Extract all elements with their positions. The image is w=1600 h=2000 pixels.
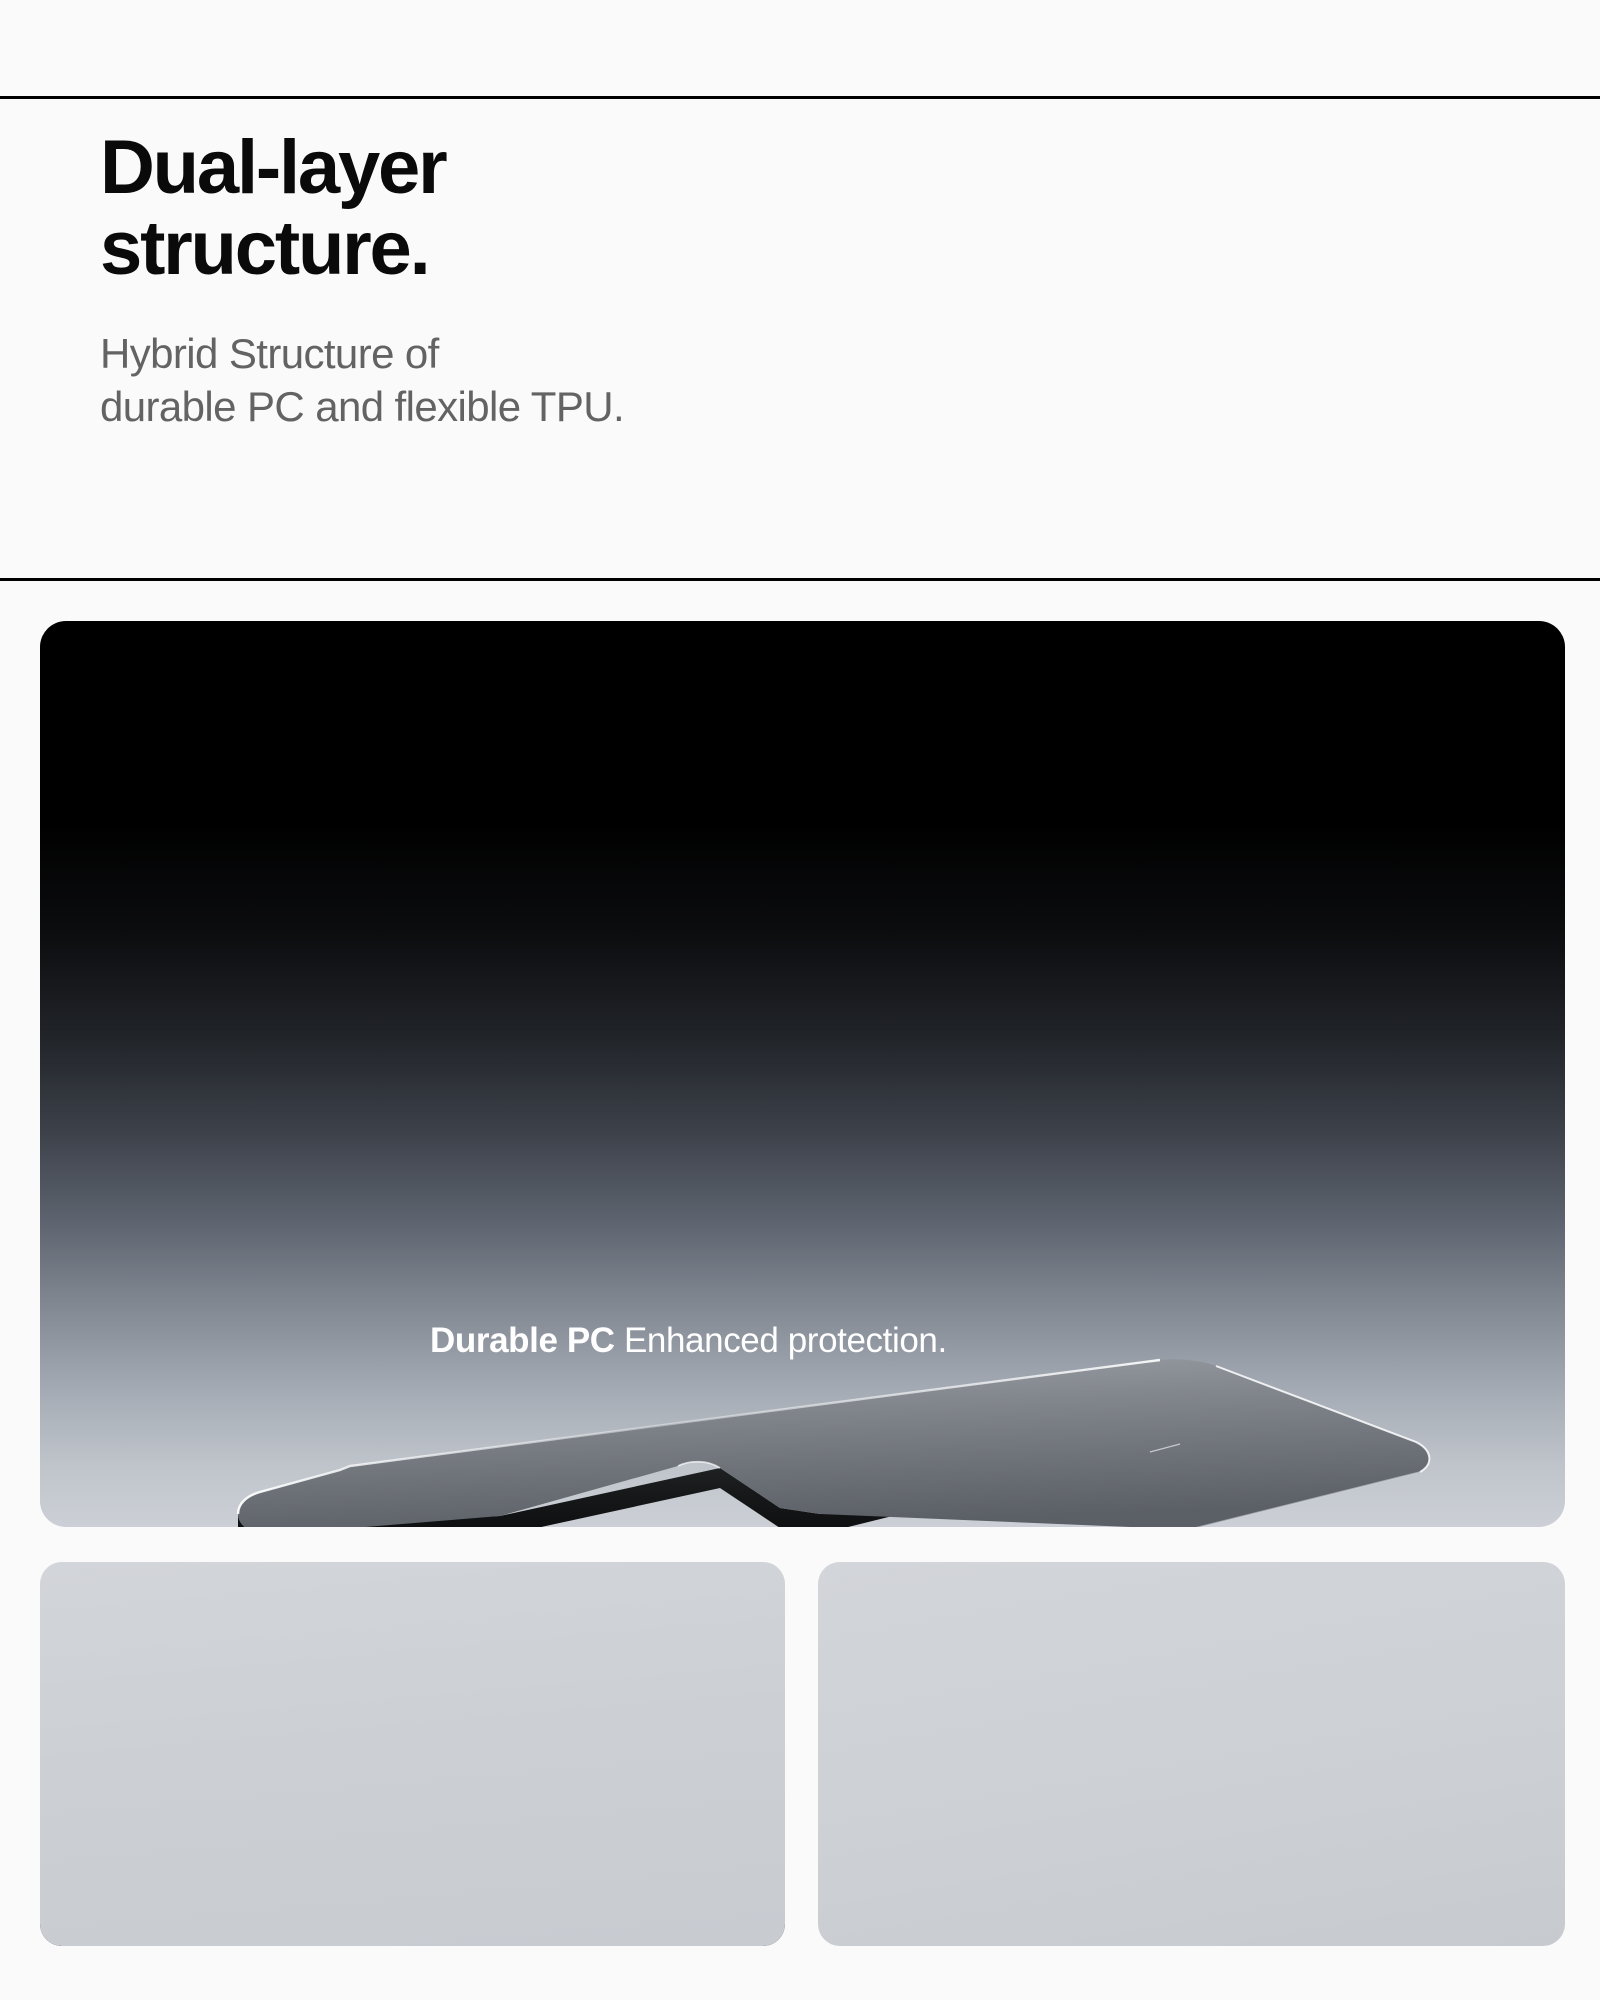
panel-corner-background (818, 1562, 1565, 1946)
heading-block: Dual-layer structure. Hybrid Structure o… (100, 128, 1000, 434)
divider-bottom (0, 578, 1600, 581)
label-durable-pc: Durable PC Enhanced protection. (430, 1321, 947, 1361)
product-feature-page: Dual-layer structure. Hybrid Structure o… (0, 0, 1600, 2000)
subheading-line-2: durable PC and flexible TPU. (100, 380, 1000, 433)
divider-top (0, 96, 1600, 99)
label-durable-pc-strong: Durable PC (430, 1321, 615, 1360)
headline-line-1: Dual-layer (100, 128, 1000, 209)
panel-cnc-background (40, 1562, 785, 1946)
label-durable-pc-light: Enhanced protection. (624, 1321, 947, 1360)
headline: Dual-layer structure. (100, 128, 1000, 289)
panel-case-corner (818, 1562, 1565, 1946)
pc-plate-illustration (220, 1356, 1440, 1527)
subheading: Hybrid Structure of durable PC and flexi… (100, 327, 1000, 434)
subheading-line-1: Hybrid Structure of (100, 327, 1000, 380)
headline-line-2: structure. (100, 209, 1000, 290)
panel-cnc-machining (40, 1562, 785, 1946)
hero-panel: Made in South Korea SP691 UH spigen Dura… (40, 621, 1565, 1527)
